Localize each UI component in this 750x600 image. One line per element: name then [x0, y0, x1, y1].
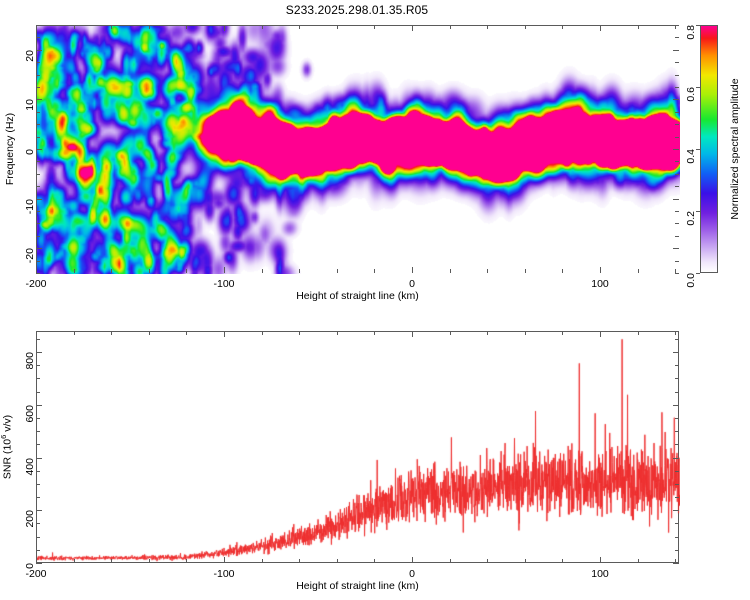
axis-tick — [262, 331, 263, 335]
axis-tick — [186, 269, 187, 273]
axis-tick — [36, 99, 42, 100]
axis-tick — [675, 223, 679, 224]
axis-tick — [600, 25, 601, 31]
axis-tick — [450, 25, 451, 29]
axis-tick — [111, 25, 112, 29]
snr-x-axis-label: Height of straight line (km) — [296, 580, 419, 592]
axis-tick — [36, 236, 40, 237]
axis-tick-label: 0 — [24, 563, 36, 569]
axis-tick — [224, 267, 225, 273]
axis-tick — [36, 550, 40, 551]
axis-tick — [36, 484, 40, 485]
axis-tick — [673, 352, 679, 353]
axis-tick — [36, 223, 40, 224]
spectrogram-y-axis-label: Frequency (Hz) — [4, 113, 16, 185]
axis-tick — [36, 112, 40, 113]
axis-tick — [111, 269, 112, 273]
axis-tick — [374, 559, 375, 563]
axis-tick — [412, 557, 413, 563]
axis-tick-label: 0.8 — [685, 25, 697, 40]
axis-tick — [186, 331, 187, 335]
axis-tick — [675, 339, 679, 340]
axis-tick — [36, 471, 40, 472]
axis-tick — [675, 236, 679, 237]
snr-y-axis-label: SNR (106 v/v) — [0, 415, 13, 479]
axis-tick — [673, 405, 679, 406]
axis-tick — [299, 25, 300, 29]
axis-tick — [36, 62, 40, 63]
axis-tick — [36, 273, 40, 274]
axis-tick-label: 0.6 — [685, 87, 697, 102]
axis-tick — [36, 37, 40, 38]
axis-tick — [562, 25, 563, 29]
spectrogram-panel — [36, 25, 679, 273]
axis-tick — [675, 497, 679, 498]
axis-tick — [262, 269, 263, 273]
axis-tick-label: -20 — [24, 248, 36, 263]
axis-tick-label: 100 — [591, 278, 609, 290]
axis-tick — [562, 331, 563, 335]
axis-tick — [673, 458, 679, 459]
axis-tick — [36, 458, 42, 459]
spectrogram-image — [37, 26, 680, 274]
axis-tick — [450, 331, 451, 335]
axis-tick-label: 400 — [24, 458, 36, 476]
colorbar-group — [700, 25, 718, 273]
spectrogram-axes-frame — [36, 25, 679, 273]
axis-tick — [36, 149, 42, 150]
axis-tick-label: 800 — [24, 352, 36, 370]
axis-tick-label: 0 — [409, 568, 415, 580]
axis-tick — [111, 331, 112, 335]
axis-tick — [186, 559, 187, 563]
axis-tick — [675, 273, 679, 274]
axis-tick — [374, 269, 375, 273]
axis-tick — [36, 563, 42, 564]
axis-tick-label: -200 — [25, 568, 46, 580]
axis-tick — [262, 25, 263, 29]
snr-axes-frame — [36, 331, 679, 563]
axis-tick — [224, 557, 225, 563]
axis-tick — [675, 537, 679, 538]
axis-tick — [675, 365, 679, 366]
axis-tick-label: 0.4 — [685, 149, 697, 164]
axis-tick — [673, 50, 679, 51]
axis-tick — [374, 25, 375, 29]
axis-tick — [36, 418, 40, 419]
axis-tick — [337, 269, 338, 273]
axis-tick-label: -100 — [213, 568, 234, 580]
axis-tick — [36, 537, 40, 538]
axis-tick — [673, 248, 679, 249]
axis-tick — [675, 137, 679, 138]
axis-tick — [412, 331, 413, 337]
axis-tick — [412, 25, 413, 31]
axis-tick — [74, 25, 75, 29]
axis-tick — [675, 523, 679, 524]
axis-tick — [337, 25, 338, 29]
axis-tick — [638, 331, 639, 335]
axis-tick — [36, 186, 40, 187]
axis-tick-label: 0 — [24, 149, 36, 155]
colorbar-gradient-fill — [701, 26, 717, 272]
axis-tick — [36, 137, 40, 138]
axis-tick — [675, 331, 676, 335]
colorbar-gradient — [700, 25, 718, 273]
axis-tick — [337, 331, 338, 335]
axis-tick — [638, 559, 639, 563]
axis-tick — [675, 37, 679, 38]
axis-tick — [149, 25, 150, 29]
axis-tick — [562, 269, 563, 273]
axis-tick-label: 200 — [24, 510, 36, 528]
axis-tick — [450, 559, 451, 563]
axis-tick — [299, 331, 300, 335]
axis-tick — [36, 523, 40, 524]
axis-tick — [525, 269, 526, 273]
axis-tick — [675, 378, 679, 379]
axis-tick — [675, 261, 679, 262]
axis-tick — [675, 25, 679, 26]
axis-tick-label: -10 — [24, 199, 36, 214]
axis-tick — [36, 161, 40, 162]
axis-tick — [675, 484, 679, 485]
axis-tick — [36, 211, 40, 212]
axis-tick — [525, 25, 526, 29]
axis-tick — [600, 557, 601, 563]
axis-tick — [36, 124, 40, 125]
axis-tick — [36, 405, 42, 406]
axis-tick — [562, 559, 563, 563]
axis-tick-label: 600 — [24, 405, 36, 423]
axis-tick — [36, 352, 42, 353]
axis-tick — [337, 559, 338, 563]
axis-tick — [638, 269, 639, 273]
figure-root: S233.2025.298.01.35.R05 -200-1000100 -20… — [0, 0, 750, 600]
axis-tick — [149, 559, 150, 563]
axis-tick — [487, 25, 488, 29]
axis-tick — [675, 431, 679, 432]
colorbar-label: Normalized spectral amplitude — [729, 78, 741, 219]
axis-tick — [450, 269, 451, 273]
axis-tick-label: -100 — [213, 278, 234, 290]
axis-tick — [224, 25, 225, 31]
axis-tick — [36, 87, 40, 88]
axis-tick — [36, 248, 42, 249]
axis-tick — [673, 149, 679, 150]
axis-tick — [600, 331, 601, 337]
axis-tick — [186, 25, 187, 29]
axis-tick — [673, 510, 679, 511]
axis-tick — [149, 331, 150, 335]
spectrogram-x-axis-label: Height of straight line (km) — [296, 290, 419, 302]
axis-tick — [36, 25, 37, 31]
axis-tick — [525, 331, 526, 335]
snr-panel — [36, 331, 679, 563]
axis-tick — [675, 186, 679, 187]
axis-tick — [262, 559, 263, 563]
axis-tick — [675, 124, 679, 125]
axis-tick — [36, 378, 40, 379]
axis-tick — [36, 510, 42, 511]
axis-tick-label: 0 — [409, 278, 415, 290]
axis-tick — [36, 267, 37, 273]
figure-title: S233.2025.298.01.35.R05 — [0, 3, 714, 17]
axis-tick — [673, 99, 679, 100]
axis-tick — [675, 161, 679, 162]
axis-tick — [675, 174, 679, 175]
axis-tick — [675, 444, 679, 445]
axis-tick — [600, 267, 601, 273]
snr-trace-line — [37, 332, 680, 564]
axis-tick-label: 10 — [24, 99, 36, 111]
axis-tick — [675, 62, 679, 63]
axis-tick — [299, 269, 300, 273]
axis-tick — [36, 444, 40, 445]
axis-tick — [675, 87, 679, 88]
axis-tick-label: -200 — [25, 278, 46, 290]
axis-tick — [111, 559, 112, 563]
axis-tick — [675, 211, 679, 212]
axis-tick — [675, 112, 679, 113]
axis-tick — [74, 559, 75, 563]
axis-tick — [74, 331, 75, 335]
axis-tick — [638, 25, 639, 29]
axis-tick — [487, 331, 488, 335]
axis-tick — [36, 431, 40, 432]
axis-tick-label: 100 — [591, 568, 609, 580]
axis-tick — [36, 365, 40, 366]
axis-tick — [675, 550, 679, 551]
axis-tick-label: 20 — [24, 50, 36, 62]
axis-tick — [673, 199, 679, 200]
axis-tick — [36, 199, 42, 200]
axis-tick — [36, 331, 37, 337]
axis-tick — [675, 75, 679, 76]
axis-tick — [36, 50, 42, 51]
axis-tick — [412, 267, 413, 273]
axis-tick — [673, 563, 679, 564]
axis-tick-label: 0.2 — [685, 211, 697, 226]
axis-tick — [36, 261, 40, 262]
axis-tick-label: 0.0 — [685, 273, 697, 288]
axis-tick — [675, 471, 679, 472]
axis-tick — [36, 339, 40, 340]
axis-tick — [487, 559, 488, 563]
axis-tick — [149, 269, 150, 273]
axis-tick — [675, 418, 679, 419]
axis-tick — [36, 75, 40, 76]
axis-tick — [36, 174, 40, 175]
axis-tick — [74, 269, 75, 273]
axis-tick — [675, 392, 679, 393]
axis-tick — [224, 331, 225, 337]
axis-tick — [525, 559, 526, 563]
axis-tick — [36, 392, 40, 393]
axis-tick — [299, 559, 300, 563]
axis-tick — [36, 497, 40, 498]
axis-tick — [374, 331, 375, 335]
axis-tick — [487, 269, 488, 273]
